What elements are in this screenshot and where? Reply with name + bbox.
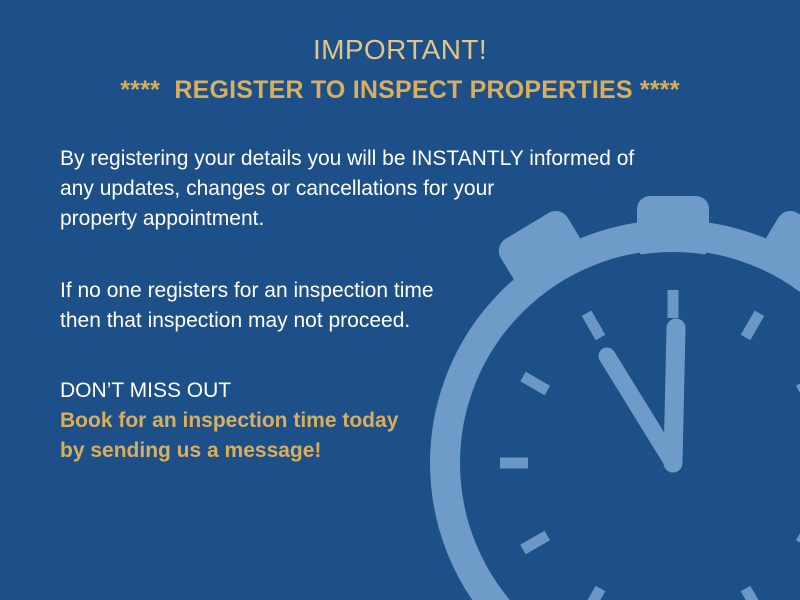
paragraph-spacer-one bbox=[60, 234, 740, 276]
promotional-slide: IMPORTANT! **** REGISTER TO INSPECT PROP… bbox=[0, 0, 800, 600]
paragraph-registering-details: By registering your details you will be … bbox=[60, 144, 740, 234]
paragraph-two-line-2: then that inspection may not proceed. bbox=[60, 306, 740, 336]
call-to-action-block: DON’T MISS OUT Book for an inspection ti… bbox=[60, 376, 740, 466]
paragraph-one-line-3: property appointment. bbox=[60, 204, 740, 234]
heading-block: IMPORTANT! **** REGISTER TO INSPECT PROP… bbox=[0, 32, 800, 107]
cta-send-message: by sending us a message! bbox=[60, 436, 740, 466]
paragraph-one-line-1: By registering your details you will be … bbox=[60, 144, 740, 174]
body-block: By registering your details you will be … bbox=[60, 144, 740, 466]
slide-content: IMPORTANT! **** REGISTER TO INSPECT PROP… bbox=[0, 0, 800, 600]
page-subtitle: **** REGISTER TO INSPECT PROPERTIES **** bbox=[0, 74, 800, 107]
cta-dont-miss-out: DON’T MISS OUT bbox=[60, 376, 740, 406]
paragraph-no-registrations: If no one registers for an inspection ti… bbox=[60, 276, 740, 336]
paragraph-spacer-two bbox=[60, 336, 740, 376]
cta-book-inspection: Book for an inspection time today bbox=[60, 406, 740, 436]
paragraph-two-line-1: If no one registers for an inspection ti… bbox=[60, 276, 740, 306]
paragraph-one-line-2: any updates, changes or cancellations fo… bbox=[60, 174, 740, 204]
page-title: IMPORTANT! bbox=[0, 32, 800, 67]
